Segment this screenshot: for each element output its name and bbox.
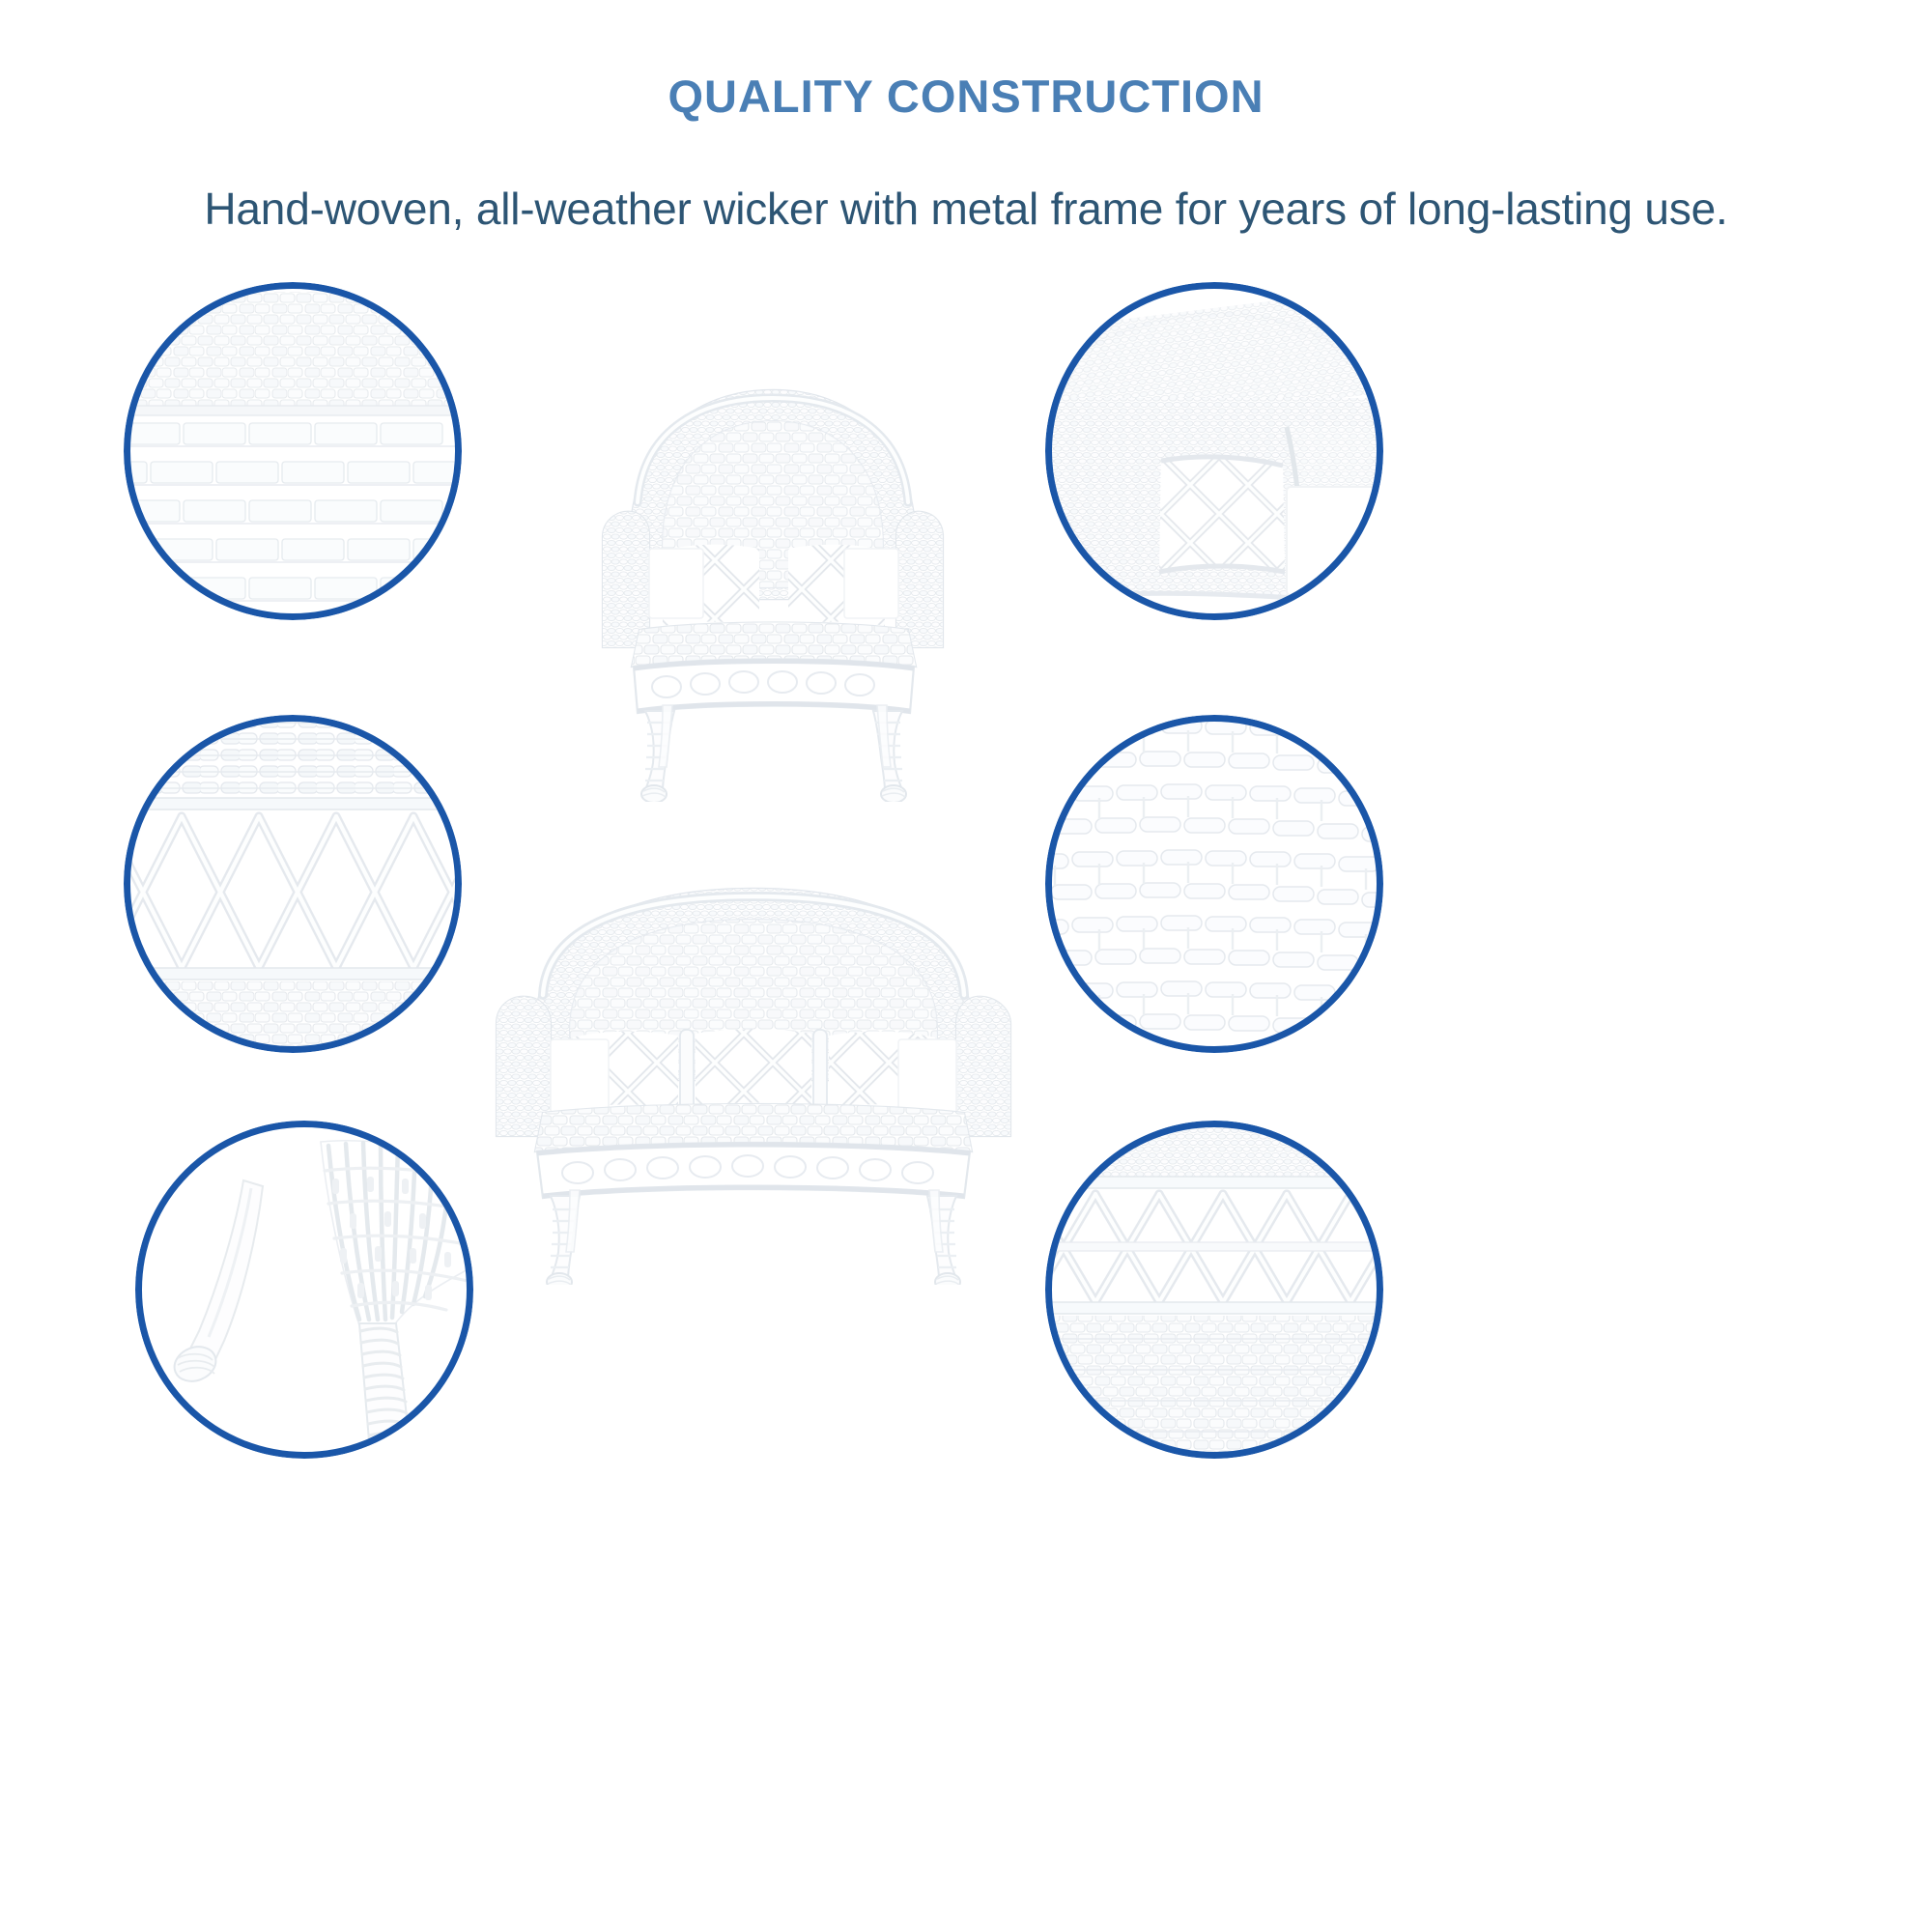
arm-cutout-right — [898, 1039, 956, 1113]
arm-cutout-left — [649, 549, 703, 618]
callout-circle-flat-basket-weave — [124, 282, 462, 620]
callout-image-leg-joint — [135, 1121, 473, 1459]
wicker-loveseat-image — [454, 860, 1053, 1285]
wicker-armchair-image — [570, 357, 976, 802]
arm-cutout-right — [844, 549, 898, 618]
page-subtitle: Hand-woven, all-weather wicker with meta… — [0, 183, 1932, 235]
callout-image-arm-corner — [1045, 282, 1383, 620]
callout-circle-arm-corner-weave — [1045, 282, 1383, 620]
arm-cutout-left — [551, 1039, 609, 1113]
header: QUALITY CONSTRUCTION Hand-woven, all-wea… — [0, 0, 1932, 235]
callout-circle-tapered-leg-joint — [135, 1121, 473, 1459]
callout-image-stacked-rows — [1045, 715, 1383, 1053]
callout-image-diamond-lattice — [124, 715, 462, 1053]
callout-image-crossed-trim — [1045, 1121, 1383, 1459]
infographic-page: QUALITY CONSTRUCTION Hand-woven, all-wea… — [0, 0, 1932, 1932]
callout-circle-crossed-trim — [1045, 1121, 1383, 1459]
callout-circle-stacked-weave-rows — [1045, 715, 1383, 1053]
callout-image-basket-weave — [124, 282, 462, 620]
page-title: QUALITY CONSTRUCTION — [0, 70, 1932, 123]
callout-circle-diamond-lattice — [124, 715, 462, 1053]
